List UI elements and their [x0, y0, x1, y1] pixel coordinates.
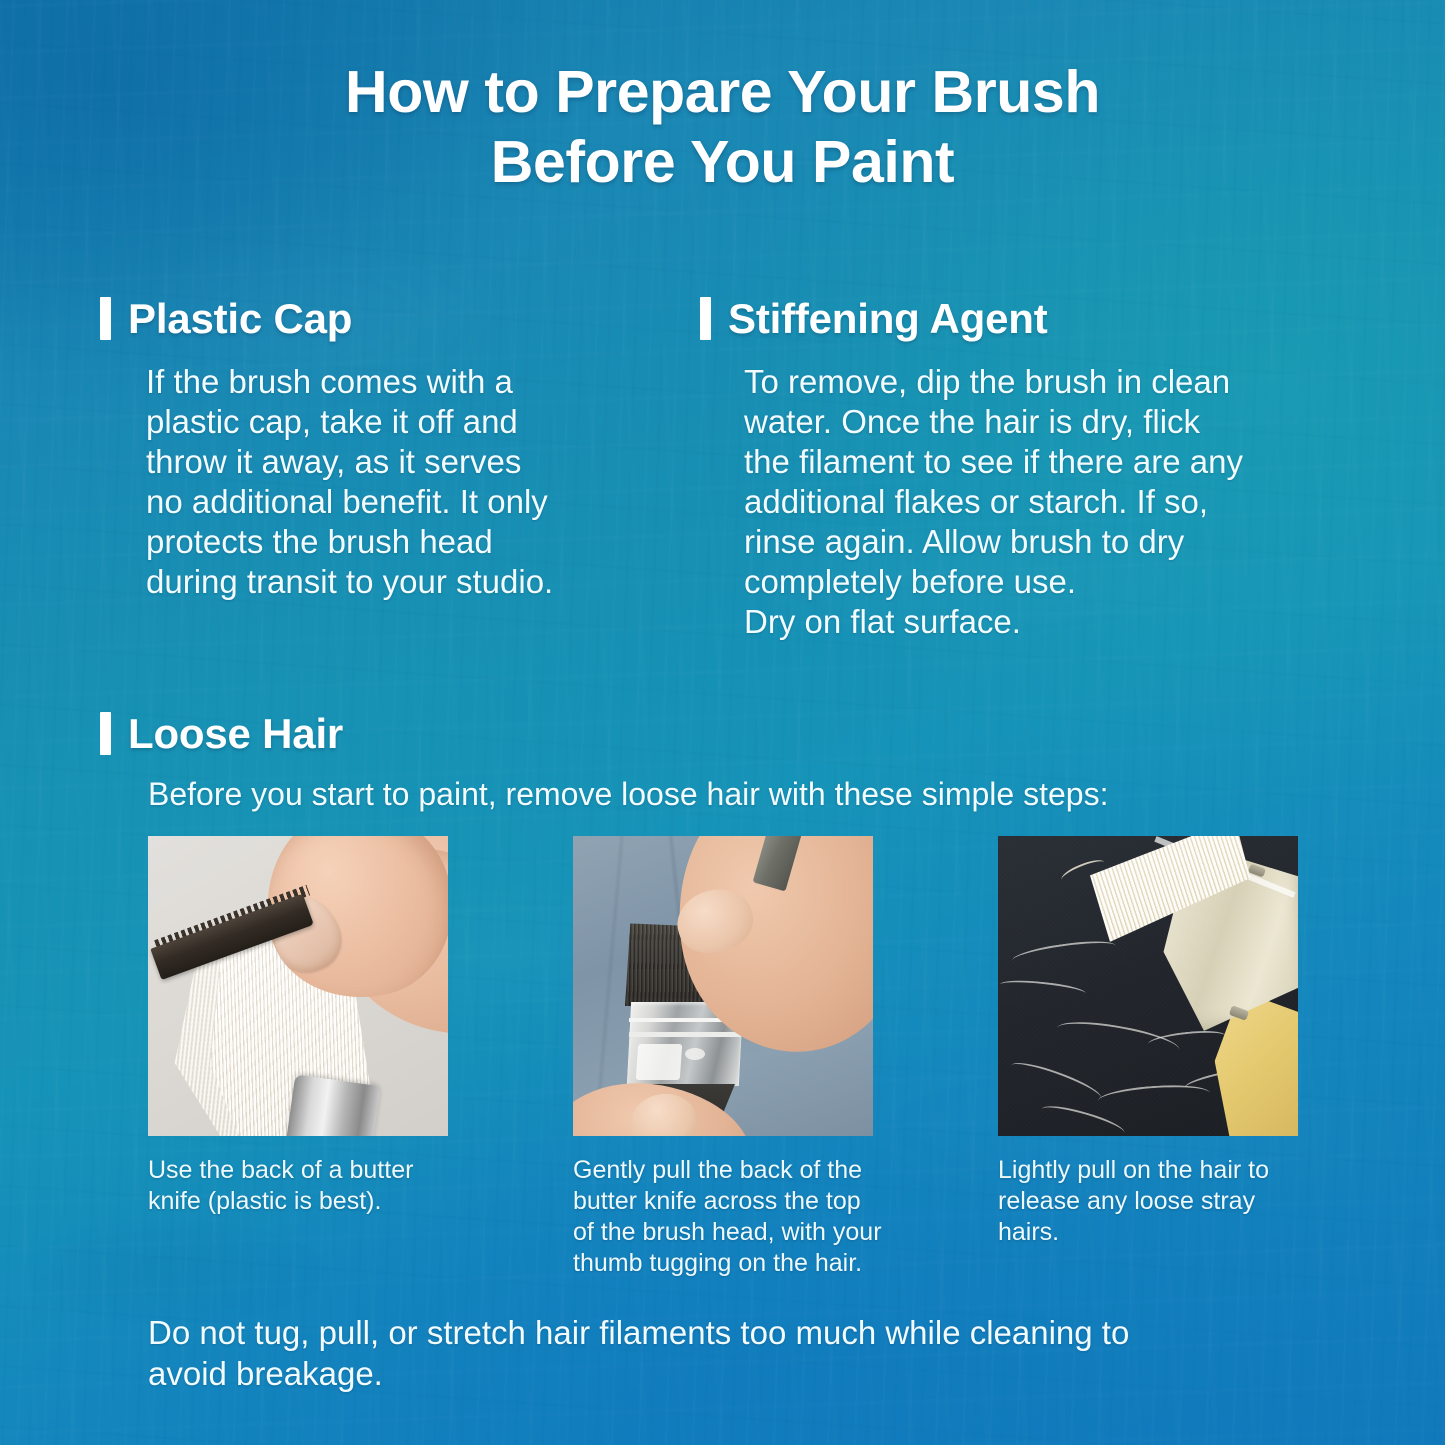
- loose-hair-intro-text: Before you start to paint, remove loose …: [148, 775, 1348, 813]
- accent-bar-icon: [100, 297, 111, 340]
- page-title: How to Prepare Your Brush Before You Pai…: [0, 58, 1445, 197]
- section-title-plastic-cap: Plastic Cap: [128, 298, 352, 340]
- section-title-stiffening-agent: Stiffening Agent: [728, 298, 1048, 340]
- step-3-caption: Lightly pull on the hair to release any …: [998, 1155, 1308, 1248]
- step-3-photo: [998, 836, 1298, 1136]
- section-heading-loose-hair: Loose Hair: [100, 712, 343, 755]
- section-body-plastic-cap: If the brush comes with a plastic cap, t…: [146, 362, 646, 602]
- brush-ferrule: [285, 1074, 380, 1136]
- ferrule-reflection: [636, 1044, 683, 1080]
- step-2-photo: [573, 836, 873, 1136]
- step-2-photo-image: [573, 836, 873, 1136]
- page-title-line-2: Before You Paint: [90, 128, 1355, 198]
- step-3-photo-image: [998, 836, 1298, 1136]
- footer-note: Do not tug, pull, or stretch hair filame…: [148, 1312, 1328, 1394]
- step-1-photo-image: [148, 836, 448, 1136]
- step-1-photo: [148, 836, 448, 1136]
- accent-bar-icon: [100, 712, 111, 755]
- infographic-poster: How to Prepare Your Brush Before You Pai…: [0, 0, 1445, 1445]
- step-1-caption: Use the back of a butter knife (plastic …: [148, 1155, 468, 1217]
- section-title-loose-hair: Loose Hair: [128, 713, 343, 755]
- accent-bar-icon: [700, 297, 711, 340]
- page-title-line-1: How to Prepare Your Brush: [90, 58, 1355, 128]
- section-body-stiffening-agent: To remove, dip the brush in clean water.…: [744, 362, 1344, 642]
- section-heading-plastic-cap: Plastic Cap: [100, 297, 352, 340]
- ferrule-band: [629, 1032, 741, 1037]
- poster-content: How to Prepare Your Brush Before You Pai…: [0, 0, 1445, 1445]
- section-heading-stiffening-agent: Stiffening Agent: [700, 297, 1048, 340]
- ferrule-reflection: [685, 1048, 705, 1060]
- step-2-caption: Gently pull the back of the butter knife…: [573, 1155, 903, 1279]
